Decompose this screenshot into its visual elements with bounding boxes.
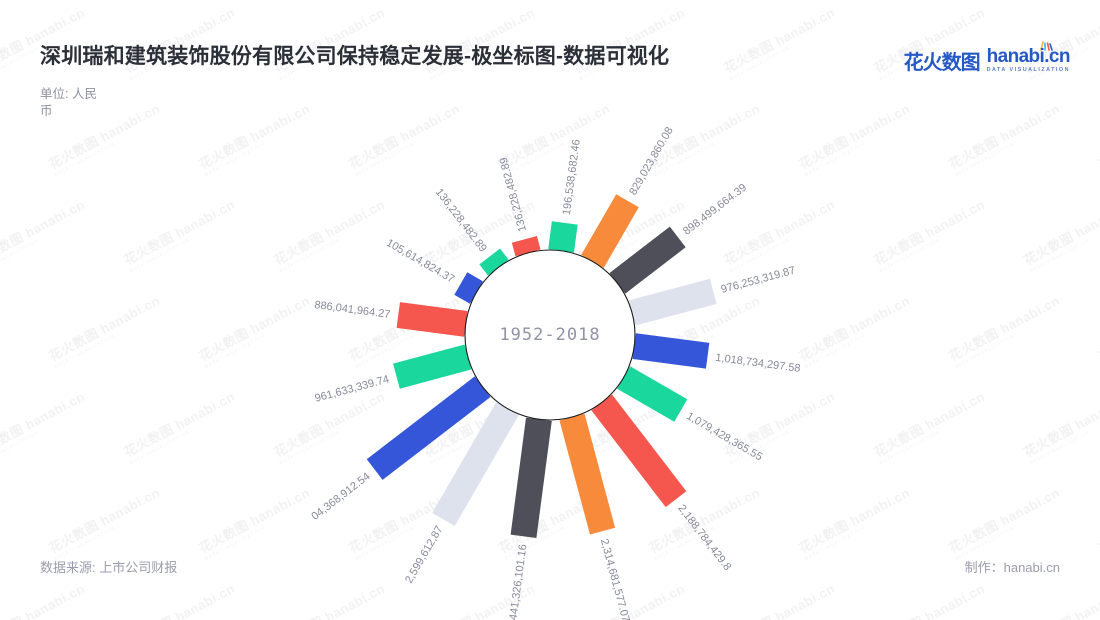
bar-value-label: 961,633,339.74 [314,373,391,404]
logo-tagline: DATA VISUALIZATION [987,68,1070,73]
logo-chinese-text: 花火数图 [904,46,980,75]
center-range-label: 1952-2018 [499,325,600,345]
bar-value-label: 04,368,912.54 [309,470,372,522]
bar-value-label: 136,228,482.89 [433,186,489,254]
bar-value-label: 136,228,482.89 [498,156,529,233]
logo-latin-text: hanabi.cn [987,47,1070,66]
polar-bar [393,344,471,388]
logo-latin-wrap: hanabi.cn DATA VISUALIZATION [987,47,1070,73]
polar-bar-chart: 136,228,482.89196,538,682.46829,023,860.… [0,0,1100,620]
polar-bar [633,333,710,368]
bar-value-label: 196,538,682.46 [561,139,583,216]
polar-bar [617,366,687,422]
page-title: 深圳瑞和建筑装饰股份有限公司保持稳定发展-极坐标图-数据可视化 [40,40,669,70]
bar-value-label: 1,018,734,297.58 [715,352,801,375]
data-source-label: 数据来源: 上市公司财报 [40,557,177,576]
unit-label: 单位: 人民币 [40,86,100,120]
polar-bar [548,221,577,252]
brand-logo: 花火数图 hanabi.cn DATA VISUALIZATION [904,46,1070,75]
bar-value-label: 2,599,612,87 [403,524,446,586]
polar-bar [397,302,468,337]
maker-credit-label: 制作：hanabi.cn [965,557,1060,576]
bar-value-label: 2,188,784,429.8 [675,503,733,573]
bar-value-label: 2,314,681,577.07 [598,538,632,620]
bar-value-label: 886,041,964.27 [314,299,391,321]
polar-bar [581,194,639,268]
polar-bar [629,279,717,326]
bar-value-label: 2,441,326,101.16 [506,544,529,620]
bar-value-label: 1,079,428,365.55 [684,410,764,463]
bar-value-label: 105,614,824.37 [384,237,456,286]
bar-value-label: 898,499,664.39 [681,182,749,238]
bar-value-label: 829,023,860.08 [627,125,676,197]
polar-bar [559,414,615,535]
polar-bar [511,418,552,538]
bar-value-label: 976,253,319.87 [720,265,797,296]
